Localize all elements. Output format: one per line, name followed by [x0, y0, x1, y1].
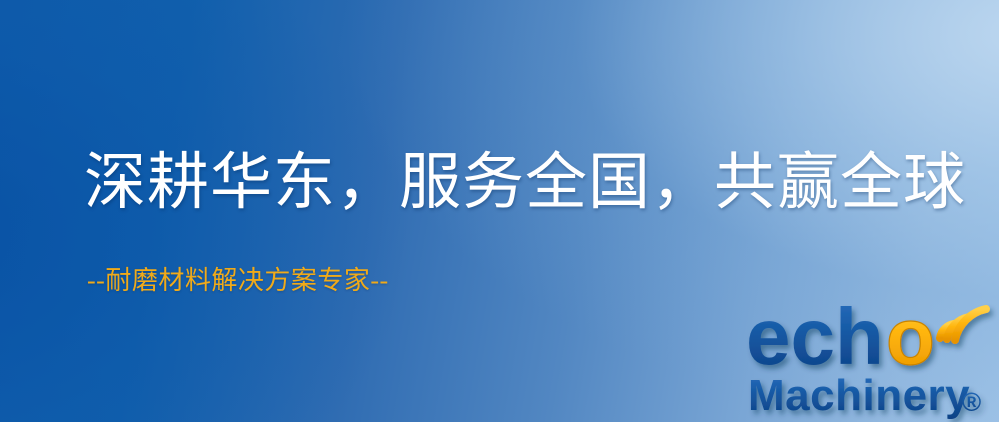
- logo-wordmark-o: o: [886, 292, 935, 381]
- logo-wordmark-o-group: o: [886, 292, 935, 381]
- wifi-arcs-icon: [940, 309, 986, 340]
- echo-machinery-logo[interactable]: ech o Machinery ®: [744, 292, 999, 422]
- logo-wordmark-ech-group: ech: [746, 292, 884, 381]
- banner-subline: --耐磨材料解决方案专家--: [87, 268, 389, 294]
- logo-tagline: Machinery: [748, 371, 970, 420]
- promo-banner: 深耕华东，服务全国，共赢全球 --耐磨材料解决方案专家--: [0, 0, 999, 422]
- logo-wordmark-ech: ech: [746, 292, 884, 381]
- logo-tagline-group: Machinery ®: [748, 371, 981, 420]
- logo-registered-mark: ®: [962, 387, 981, 417]
- banner-headline: 深耕华东，服务全国，共赢全球: [84, 152, 966, 214]
